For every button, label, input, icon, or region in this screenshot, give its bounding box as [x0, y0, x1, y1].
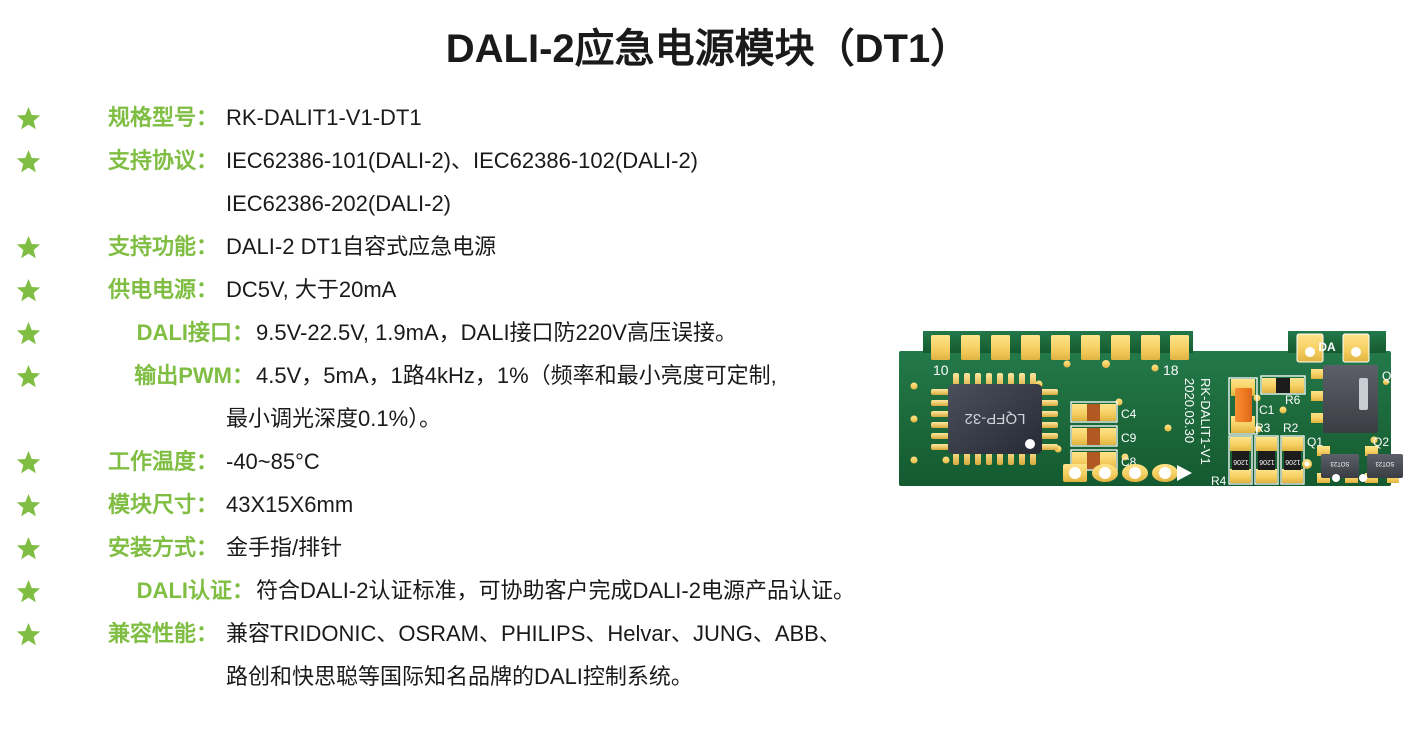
pcb-refdes-c9: C9 [1121, 431, 1137, 445]
pcb-board-name: RK-DALIT1-V1 [1198, 378, 1213, 465]
spec-value: 路创和快思聪等国际知名品牌的DALI控制系统。 [218, 662, 1000, 691]
page-title: DALI-2应急电源模块（DT1） [0, 16, 1416, 74]
through-hole-pads [1063, 464, 1192, 482]
spec-value: 符合DALI-2认证标准，可协助客户完成DALI-2电源产品认证。 [254, 576, 1000, 605]
bullet-star-cell [0, 447, 56, 475]
spec-value: -40~85°C [218, 447, 1000, 476]
bullet-star-cell [0, 533, 56, 561]
spec-label: 支持协议： [56, 146, 218, 175]
pcb-refdes-q1: Q1 [1307, 435, 1323, 449]
spec-label [56, 662, 218, 663]
spec-label [56, 189, 218, 190]
spec-row-continuation: 最小调光深度0.1%）。 [0, 404, 1000, 447]
spec-row: 工作温度： -40~85°C [0, 447, 1000, 490]
product-spec-sheet: DALI-2应急电源模块（DT1） 规格型号： RK-DALIT1-V1-DT1… [0, 0, 1416, 750]
pcb-refdes-r6: R6 [1285, 393, 1301, 407]
pcb-pin18-label: 18 [1163, 362, 1179, 378]
star-icon [16, 493, 41, 518]
spec-list: 规格型号： RK-DALIT1-V1-DT1 支持协议： IEC62386-10… [0, 103, 1000, 705]
pcb-refdes-r3: R3 [1255, 421, 1271, 435]
pcb-refdes-q3: Q3 [1382, 369, 1398, 383]
pcb-board-date: 2020.03.30 [1182, 378, 1197, 443]
spec-value: 金手指/排针 [218, 533, 1000, 562]
pcb-refdes-q2: Q2 [1373, 435, 1389, 449]
bullet-star-cell [0, 404, 56, 432]
bullet-star-cell [0, 275, 56, 303]
spec-value: 兼容TRIDONIC、OSRAM、PHILIPS、Helvar、JUNG、ABB… [218, 619, 1000, 648]
spec-label: DALI接口： [56, 318, 254, 347]
spec-label: 输出PWM： [56, 361, 254, 390]
spec-row: DALI认证： 符合DALI-2认证标准，可协助客户完成DALI-2电源产品认证… [0, 576, 1000, 619]
star-icon [16, 450, 41, 475]
star-icon [16, 235, 41, 260]
gold-finger-pads [931, 335, 1189, 360]
star-icon [16, 536, 41, 561]
pcb-refdes-r4: R4 [1211, 474, 1227, 488]
spec-row: 支持功能： DALI-2 DT1自容式应急电源 [0, 232, 1000, 275]
star-icon [16, 278, 41, 303]
pcb-resistor-code: 1206 [1233, 458, 1249, 465]
pcb-resistor-code: 1206 [1259, 458, 1275, 465]
spec-value: DALI-2 DT1自容式应急电源 [218, 232, 1000, 261]
bullet-star-cell [0, 619, 56, 647]
spec-row-continuation: IEC62386-202(DALI-2) [0, 189, 1000, 232]
spec-row: 供电电源： DC5V, 大于20mA [0, 275, 1000, 318]
bullet-star-cell [0, 232, 56, 260]
pcb-refdes-c1: C1 [1259, 403, 1275, 417]
spec-value: 9.5V-22.5V, 1.9mA，DALI接口防220V高压误接。 [254, 318, 1000, 347]
spec-value: DC5V, 大于20mA [218, 275, 1000, 304]
spec-row: 支持协议： IEC62386-101(DALI-2)、IEC62386-102(… [0, 146, 1000, 189]
spec-value: 最小调光深度0.1%）。 [218, 404, 1000, 433]
bullet-star-cell [0, 189, 56, 217]
pcb-refdes-c4: C4 [1121, 407, 1137, 421]
pcb-transistor-code: SOT23 [1330, 460, 1350, 466]
star-icon [16, 106, 41, 131]
lqfp32-chip: LQFP-32 [931, 373, 1058, 465]
star-icon [16, 321, 41, 346]
spec-label: 支持功能： [56, 232, 218, 261]
star-icon [16, 364, 41, 389]
pcb-illustration: DA 10 18 [893, 318, 1403, 523]
spec-value: 43X15X6mm [218, 490, 1000, 519]
spec-row-continuation: 路创和快思聪等国际知名品牌的DALI控制系统。 [0, 662, 1000, 705]
spec-label: 工作温度： [56, 447, 218, 476]
pcb-pin10-label: 10 [933, 362, 949, 378]
bullet-star-cell [0, 361, 56, 389]
spec-value: 4.5V，5mA，1路4kHz，1%（频率和最小亮度可定制, [254, 361, 1000, 390]
cap-array-c4-c9-c8: C4 C9 C8 [1071, 402, 1137, 470]
spec-row: 规格型号： RK-DALIT1-V1-DT1 [0, 103, 1000, 146]
spec-label [56, 404, 218, 405]
star-icon [16, 622, 41, 647]
spec-label: 供电电源： [56, 275, 218, 304]
spec-value: RK-DALIT1-V1-DT1 [218, 103, 1000, 132]
spec-label: DALI认证： [56, 576, 254, 605]
bullet-star-cell [0, 103, 56, 131]
pcb-transistor-code: SOT23 [1375, 460, 1395, 466]
pcb-chip-label: LQFP-32 [965, 410, 1026, 427]
pcb-product-image: DA 10 18 [893, 318, 1403, 523]
pcb-resistor-code: 1206 [1285, 458, 1301, 465]
spec-label: 兼容性能： [56, 619, 218, 648]
spec-row: 兼容性能： 兼容TRIDONIC、OSRAM、PHILIPS、Helvar、JU… [0, 619, 1000, 662]
bullet-star-cell [0, 318, 56, 346]
star-icon [16, 579, 41, 604]
spec-row: 安装方式： 金手指/排针 [0, 533, 1000, 576]
bullet-star-cell [0, 146, 56, 174]
spec-row: 输出PWM： 4.5V，5mA，1路4kHz，1%（频率和最小亮度可定制, [0, 361, 1000, 404]
star-icon [16, 149, 41, 174]
pcb-refdes-r2: R2 [1283, 421, 1299, 435]
spec-value: IEC62386-101(DALI-2)、IEC62386-102(DALI-2… [218, 146, 1000, 175]
bullet-star-cell [0, 662, 56, 690]
pcb-da-label: DA [1318, 340, 1336, 354]
bullet-star-cell [0, 490, 56, 518]
spec-label: 安装方式： [56, 533, 218, 562]
spec-label: 模块尺寸： [56, 490, 218, 519]
bullet-star-cell [0, 576, 56, 604]
spec-row: 模块尺寸： 43X15X6mm [0, 490, 1000, 533]
spec-value: IEC62386-202(DALI-2) [218, 189, 1000, 218]
spec-row: DALI接口： 9.5V-22.5V, 1.9mA，DALI接口防220V高压误… [0, 318, 1000, 361]
spec-label: 规格型号： [56, 103, 218, 132]
